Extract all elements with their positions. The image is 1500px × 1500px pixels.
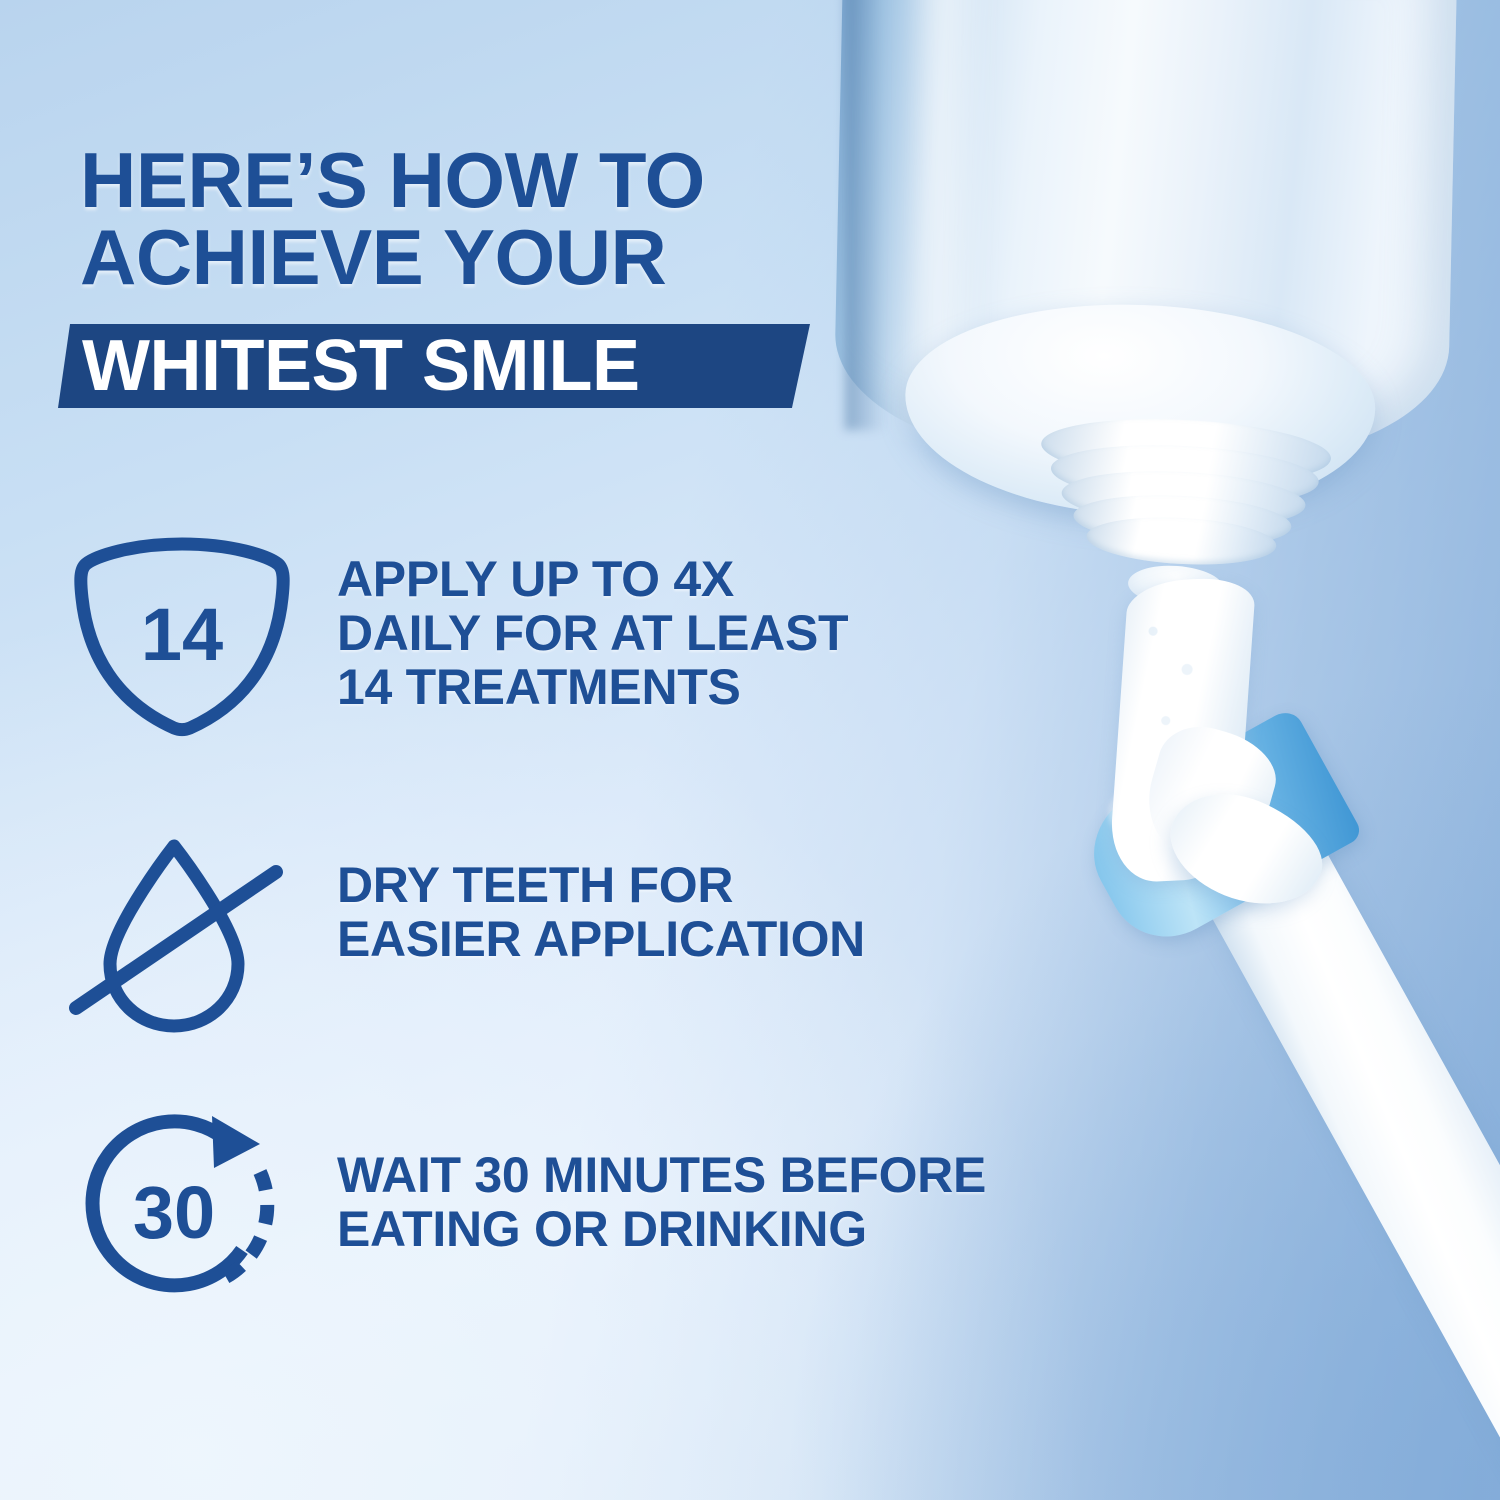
page-title: HERE’S HOW TO ACHIEVE YOUR (80, 142, 880, 296)
no-water-drop-icon (62, 836, 292, 1041)
feature-3-line-2: EATING OR DRINKING (337, 1202, 986, 1256)
feature-2-line-2: EASIER APPLICATION (337, 912, 865, 966)
feature-2-text: DRY TEETH FOR EASIER APPLICATION (337, 858, 865, 966)
clock-badge-value: 30 (133, 1171, 215, 1254)
infographic-canvas: HERE’S HOW TO ACHIEVE YOUR WHITEST SMILE… (0, 0, 1500, 1500)
feature-3-text: WAIT 30 MINUTES BEFORE EATING OR DRINKIN… (337, 1148, 986, 1256)
feature-1-line-1: APPLY UP TO 4X (337, 552, 848, 606)
headline-banner-text: WHITEST SMILE (82, 330, 639, 402)
clock-arrow-30-icon: 30 (74, 1110, 286, 1315)
feature-3-line-1: WAIT 30 MINUTES BEFORE (337, 1148, 986, 1202)
feature-1-line-2: DAILY FOR AT LEAST (337, 606, 848, 660)
feature-1-text: APPLY UP TO 4X DAILY FOR AT LEAST 14 TRE… (337, 552, 848, 714)
shield-14-icon: 14 (72, 532, 292, 745)
headline-line-2: ACHIEVE YOUR (80, 219, 880, 296)
applicator-handle (1204, 840, 1500, 1500)
shield-badge-value: 14 (141, 593, 223, 676)
feature-1-line-3: 14 TREATMENTS (337, 660, 848, 714)
headline-line-1: HERE’S HOW TO (80, 142, 880, 219)
feature-2-line-1: DRY TEETH FOR (337, 858, 865, 912)
